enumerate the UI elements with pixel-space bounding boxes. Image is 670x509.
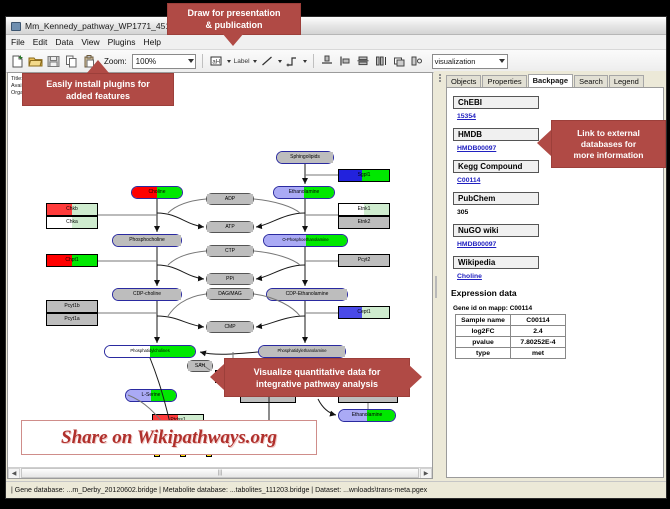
node-label: Phosphocholine xyxy=(129,238,165,243)
callout-visualize-arrow-right-icon xyxy=(408,364,422,390)
pathway-edge xyxy=(318,399,336,415)
same-height-icon[interactable] xyxy=(374,54,389,69)
scroll-thumb[interactable]: ||| xyxy=(21,468,419,478)
app-icon xyxy=(10,20,21,31)
node-label: Chkb xyxy=(66,207,78,212)
table-cell-key: log2FC xyxy=(456,326,511,337)
node-label: Sgpl1 xyxy=(358,173,371,178)
node-label: ATP xyxy=(225,225,234,230)
callout-plugins-arrow-icon xyxy=(87,60,109,73)
section-heading: NuGO wiki xyxy=(453,224,539,237)
node-label: L-Serine xyxy=(142,393,161,398)
line-tool-icon[interactable] xyxy=(260,54,275,69)
section-heading: HMDB xyxy=(453,128,539,141)
copy-icon[interactable] xyxy=(64,54,79,69)
wikipedia-link[interactable]: Choline xyxy=(457,273,663,280)
svg-text:aH: aH xyxy=(212,59,220,65)
callout-draw-line1: Draw for presentation xyxy=(187,7,280,19)
table-cell-value: met xyxy=(511,348,566,359)
datanode-icon[interactable]: aH xyxy=(209,54,224,69)
zoom-combobox[interactable]: 100% xyxy=(132,54,196,69)
tab-search[interactable]: Search xyxy=(574,75,608,87)
align-top-icon[interactable] xyxy=(320,54,335,69)
chevron-down-icon[interactable] xyxy=(188,59,194,63)
callout-draw-line2: & publication xyxy=(187,19,280,31)
table-cell-key: type xyxy=(456,348,511,359)
callout-links: Link to external databases for more info… xyxy=(551,120,666,168)
node-label: Pcyt1b xyxy=(64,304,79,309)
scroll-right-arrow-icon[interactable]: ▶ xyxy=(420,468,432,479)
section-heading: PubChem xyxy=(453,192,539,205)
pubchem-value: 305 xyxy=(457,209,663,216)
node-label: Choline xyxy=(149,190,166,195)
screenshot-root: Mm_Kennedy_pathway_WP1771_45176.gpml Fil… xyxy=(0,0,670,509)
section-heading: ChEBI xyxy=(453,96,539,109)
table-row: Sample nameC00114 xyxy=(456,315,566,326)
node-label: Sphingolipids xyxy=(290,155,320,160)
tab-backpage[interactable]: Backpage xyxy=(528,74,573,87)
pathway-anchor-line xyxy=(254,294,300,316)
node-label: Pcyt2 xyxy=(358,258,371,263)
node-label: Pcyt1a xyxy=(64,317,79,322)
callout-plugins: Easily install plugins for added feature… xyxy=(22,73,174,106)
pathway-edge xyxy=(157,316,204,327)
gene-id-line: Gene id on mapp: C00114 xyxy=(453,305,663,312)
callout-links-line1: Link to external xyxy=(574,128,644,139)
expression-data-heading: Expression data xyxy=(451,288,663,298)
scroll-left-arrow-icon[interactable]: ◀ xyxy=(8,468,20,479)
node-label: Ethanolamine xyxy=(352,413,383,418)
kegg-link[interactable]: C00114 xyxy=(457,177,663,184)
pathway-anchor-line xyxy=(254,251,300,265)
callout-visualize-arrow-left-icon xyxy=(210,364,224,390)
pathway-canvas-wrapper: Title: Availab Organi SphingolipidsSgpl1… xyxy=(7,72,433,479)
save-icon[interactable] xyxy=(46,54,61,69)
node-label: Chka xyxy=(66,220,78,225)
callout-plugins-line1: Easily install plugins for xyxy=(46,78,150,90)
pathway-anchor-line xyxy=(254,199,300,213)
pathway-edge xyxy=(256,265,305,279)
node-label: Chpt1 xyxy=(65,258,78,263)
chebi-link[interactable]: 15354 xyxy=(457,113,663,120)
pathway-edge xyxy=(256,213,305,227)
callout-links-line2: databases for xyxy=(574,139,644,150)
nugo-link[interactable]: HMDB00097 xyxy=(457,241,663,248)
menu-view[interactable]: View xyxy=(81,37,99,47)
table-cell-key: Sample name xyxy=(456,315,511,326)
menu-help[interactable]: Help xyxy=(144,37,161,47)
line-dropdown-icon[interactable] xyxy=(278,60,282,63)
callout-visualize: Visualize quantitative data for integrat… xyxy=(224,358,410,397)
node-label: CMP xyxy=(224,325,235,330)
new-document-icon[interactable] xyxy=(10,54,25,69)
node-label: Etnk2 xyxy=(358,220,371,225)
zoom-value: 100% xyxy=(134,57,156,66)
node-label: PPi xyxy=(226,277,234,282)
pathway-anchor-line xyxy=(168,199,206,213)
node-label: SAH xyxy=(195,364,205,369)
status-text: | Gene database: ...m_Derby_20120602.bri… xyxy=(11,487,427,494)
expression-table: Sample nameC00114log2FC2.4pvalue7.80252E… xyxy=(455,314,566,359)
table-row: log2FC2.4 xyxy=(456,326,566,337)
node-label: Phosphatidylcholines xyxy=(130,349,169,353)
status-bar: | Gene database: ...m_Derby_20120602.bri… xyxy=(6,481,666,498)
table-cell-value: 2.4 xyxy=(511,326,566,337)
node-label: Etnk1 xyxy=(358,207,371,212)
node-label: O-Phosphoethanolamine xyxy=(282,238,328,242)
node-label: DAG/MAG xyxy=(218,292,242,297)
menu-file[interactable]: File xyxy=(11,37,25,47)
table-cell-key: pvalue xyxy=(456,337,511,348)
pathway-anchor-line xyxy=(168,251,206,265)
node-label: Phosphatidylethanolamine xyxy=(277,349,326,353)
table-row: pvalue7.80252E-4 xyxy=(456,337,566,348)
datanode-dropdown-icon[interactable] xyxy=(227,60,231,63)
open-folder-icon[interactable] xyxy=(28,54,43,69)
node-label: ADP xyxy=(225,197,235,202)
callout-draw: Draw for presentation & publication xyxy=(167,3,301,35)
node-label: Cept1 xyxy=(357,310,370,315)
label-dropdown-icon[interactable] xyxy=(253,60,257,63)
table-cell-value: 7.80252E-4 xyxy=(511,337,566,348)
backpage-section-wikipedia: Wikipedia Choline xyxy=(453,252,663,280)
pathway-edge xyxy=(157,213,204,227)
tab-properties[interactable]: Properties xyxy=(482,75,526,87)
pathway-edges xyxy=(8,73,432,468)
connector-dropdown-icon[interactable] xyxy=(303,60,307,63)
callout-draw-arrow-icon xyxy=(222,33,244,46)
section-heading: Wikipedia xyxy=(453,256,539,269)
tab-objects[interactable]: Objects xyxy=(446,75,481,87)
connector-tool-icon[interactable] xyxy=(285,54,300,69)
callout-links-line3: more information xyxy=(574,150,644,161)
backpage-section-nugo: NuGO wiki HMDB00097 xyxy=(453,220,663,248)
menu-edit[interactable]: Edit xyxy=(33,37,48,47)
backpage-section-chebi: ChEBI 15354 xyxy=(453,92,663,120)
side-panel-tabs: Objects Properties Backpage Search Legen… xyxy=(446,73,664,87)
stack-center-icon[interactable] xyxy=(356,54,371,69)
canvas-horizontal-scrollbar[interactable]: ◀ ||| ▶ xyxy=(8,467,432,478)
align-left-icon[interactable] xyxy=(338,54,353,69)
pathway-anchor-line xyxy=(168,294,206,316)
visualization-value: visualization xyxy=(435,57,476,66)
pathway-canvas[interactable]: Title: Availab Organi SphingolipidsSgpl1… xyxy=(8,73,432,468)
pathway-edge xyxy=(157,265,204,279)
callout-share: Share on Wikipathways.org xyxy=(21,420,317,455)
backpage-section-pubchem: PubChem 305 xyxy=(453,188,663,216)
node-label: CDP-Ethanolamine xyxy=(286,292,329,297)
table-row: typemet xyxy=(456,348,566,359)
callout-links-arrow-icon xyxy=(537,130,551,156)
callout-visualize-line2: integrative pathway analysis xyxy=(254,378,381,390)
section-heading: Kegg Compound xyxy=(453,160,539,173)
menu-plugins[interactable]: Plugins xyxy=(108,37,136,47)
visualization-combobox[interactable]: visualization xyxy=(432,54,508,69)
pathway-edge xyxy=(200,352,258,354)
tab-legend[interactable]: Legend xyxy=(609,75,644,87)
title-bar: Mm_Kennedy_pathway_WP1771_45176.gpml xyxy=(6,17,666,35)
node-label: CDP-choline xyxy=(133,292,161,297)
tab-scroll-grip[interactable] xyxy=(439,73,443,87)
label-tool[interactable]: Label xyxy=(234,58,250,65)
send-back-icon[interactable] xyxy=(410,54,425,69)
node-label: CTP xyxy=(225,249,235,254)
callout-plugins-line2: added features xyxy=(46,90,150,102)
menu-data[interactable]: Data xyxy=(55,37,73,47)
menu-bar: File Edit Data View Plugins Help xyxy=(6,35,666,50)
visualization-chevron-down-icon[interactable] xyxy=(499,59,505,63)
bring-front-icon[interactable] xyxy=(392,54,407,69)
share-text: Share on Wikipathways.org xyxy=(61,427,277,449)
toolbar-separator xyxy=(202,54,203,68)
node-label: Ethanolamine xyxy=(289,190,320,195)
toolbar-separator-2 xyxy=(313,54,314,68)
pathway-edge xyxy=(256,316,305,327)
callout-visualize-line1: Visualize quantitative data for xyxy=(254,366,381,378)
table-cell-value: C00114 xyxy=(511,315,566,326)
